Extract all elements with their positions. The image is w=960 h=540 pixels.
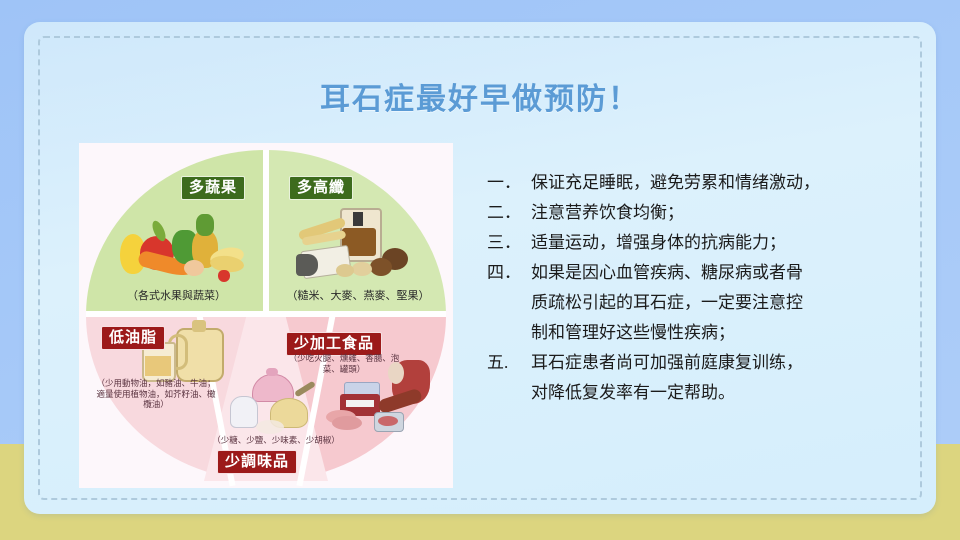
page-title: 耳石症最好早做预防！ xyxy=(0,74,960,118)
prevention-tips-list: 一．保证充足睡眠，避免劳累和情绪激动，二．注意营养饮食均衡；三．适量运动，增强身… xyxy=(487,168,907,408)
list-item: 三．适量运动，增强身体的抗病能力； xyxy=(487,228,907,258)
list-item-number: 五. xyxy=(487,348,531,378)
seasoning-jars-illustration xyxy=(226,374,318,436)
list-item-text: 如果是因心血管疾病、糖尿病或者骨质疏松引起的耳石症，一定要注意控制和管理好这些慢… xyxy=(531,258,907,348)
list-item-line: 适量运动，增强身体的抗病能力； xyxy=(531,228,907,258)
list-item-line: 质疏松引起的耳石症，一定要注意控 xyxy=(531,288,907,318)
list-item: 二．注意营养饮食均衡； xyxy=(487,198,907,228)
list-item-line: 注意营养饮食均衡； xyxy=(531,198,907,228)
list-item-line: 耳石症患者尚可加强前庭康复训练， xyxy=(531,348,907,378)
grains-nuts-illustration xyxy=(296,208,420,284)
wheel-graphic: 多蔬果 多高纖 低油脂 少加工食品 少調味品 （各式水果與蔬菜） （糙米、大麥、… xyxy=(86,150,446,481)
list-item-text: 保证充足睡眠，避免劳累和情绪激动， xyxy=(531,168,907,198)
list-item-line: 对降低复发率有一定帮助。 xyxy=(531,378,907,408)
caption-low-fat: （少用動物油，如豬油、牛油；適量使用植物油，如芥籽油、橄欖油） xyxy=(96,378,216,410)
healthy-eating-wheel-image: 多蔬果 多高纖 低油脂 少加工食品 少調味品 （各式水果與蔬菜） （糙米、大麥、… xyxy=(79,143,453,488)
list-item-number: 一． xyxy=(487,168,531,198)
list-item: 一．保证充足睡眠，避免劳累和情绪激动， xyxy=(487,168,907,198)
list-item-line: 如果是因心血管疾病、糖尿病或者骨 xyxy=(531,258,907,288)
list-item: 五.耳石症患者尚可加强前庭康复训练，对降低复发率有一定帮助。 xyxy=(487,348,907,408)
fruits-vegetables-illustration xyxy=(114,212,244,282)
list-item-number: 二． xyxy=(487,198,531,228)
caption-less-processed: （少吃火腿、燻雞、香腸、泡菜、罐頭） xyxy=(284,353,404,374)
slide-canvas: 耳石症最好早做预防！ xyxy=(0,0,960,540)
caption-vegetables: （各式水果與蔬菜） xyxy=(104,290,249,304)
badge-high-fiber: 多高纖 xyxy=(289,176,353,200)
list-item-number: 三． xyxy=(487,228,531,258)
caption-less-seasoning: （少糖、少鹽、少味素、少胡椒） xyxy=(196,435,356,446)
badge-less-seasoning: 少調味品 xyxy=(217,450,297,474)
list-item-line: 保证充足睡眠，避免劳累和情绪激动， xyxy=(531,168,907,198)
list-item-text: 注意营养饮食均衡； xyxy=(531,198,907,228)
badge-low-fat: 低油脂 xyxy=(101,326,165,350)
list-item: 四．如果是因心血管疾病、糖尿病或者骨质疏松引起的耳石症，一定要注意控制和管理好这… xyxy=(487,258,907,348)
list-item-number: 四． xyxy=(487,258,531,288)
caption-high-fiber: （糙米、大麥、燕麥、堅果） xyxy=(278,290,438,304)
list-item-text: 适量运动，增强身体的抗病能力； xyxy=(531,228,907,258)
wheel-divider-vertical xyxy=(263,150,269,313)
badge-vegetables: 多蔬果 xyxy=(181,176,245,200)
list-item-text: 耳石症患者尚可加强前庭康复训练，对降低复发率有一定帮助。 xyxy=(531,348,907,408)
list-item-line: 制和管理好这些慢性疾病； xyxy=(531,318,907,348)
